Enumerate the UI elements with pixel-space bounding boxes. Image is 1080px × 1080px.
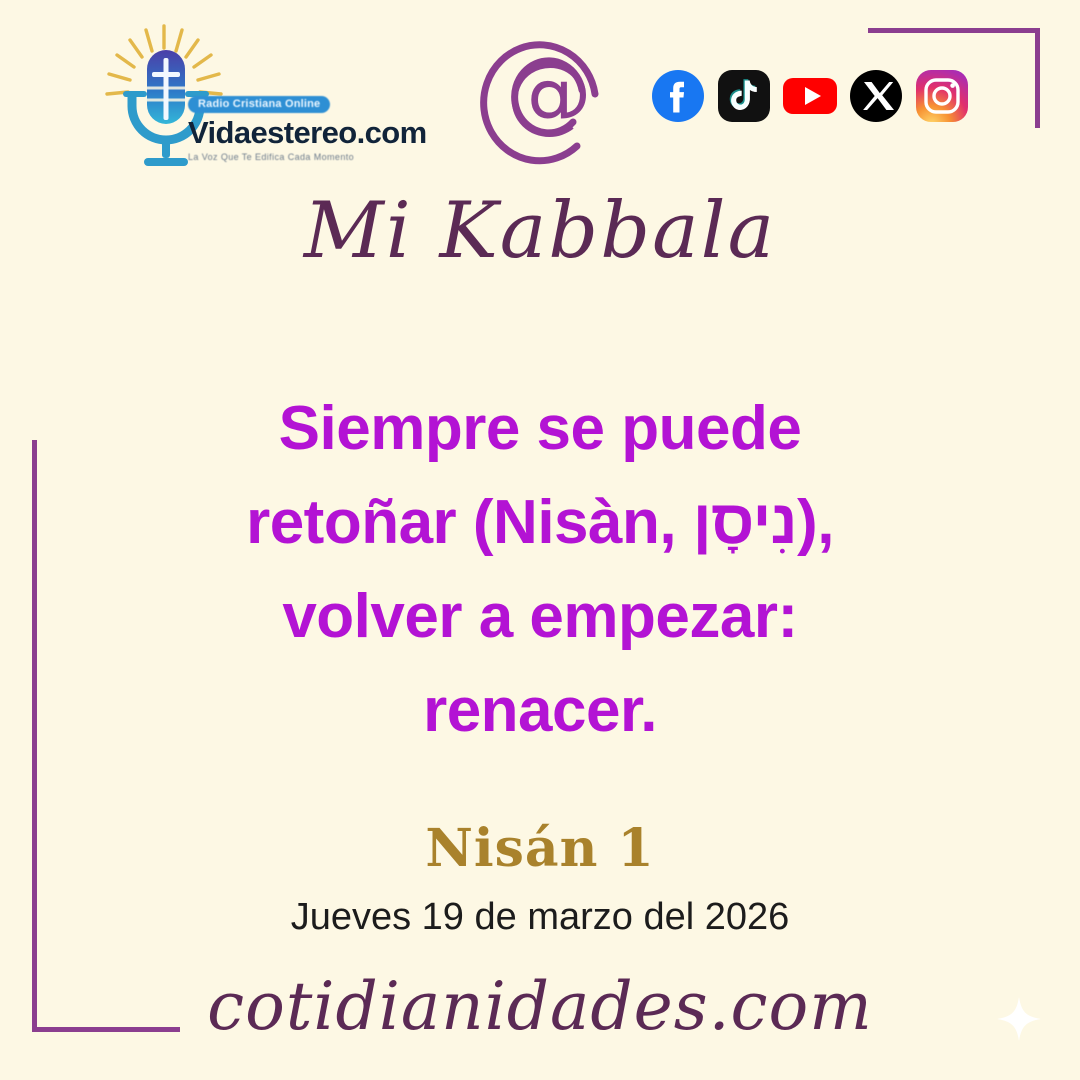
- quote-line-4: renacer.: [150, 664, 930, 758]
- gregorian-date-label: Jueves 19 de marzo del 2026: [0, 896, 1080, 939]
- hebrew-date-label: Nisán 1: [0, 818, 1080, 879]
- vidaestereo-logo[interactable]: Radio Cristiana Online Vidaestereo.com L…: [92, 22, 382, 174]
- tiktok-icon[interactable]: [716, 68, 772, 124]
- instagram-icon[interactable]: [914, 68, 970, 124]
- logo-tagline: La Voz Que Te Edifica Cada Momento: [188, 152, 388, 162]
- quote-line-1: Siempre se puede: [150, 382, 930, 476]
- site-url[interactable]: cotidianidades.com: [0, 968, 1080, 1045]
- quote-block: Siempre se puede retoñar (Nisàn, נִיסָן)…: [150, 382, 930, 758]
- quote-line-3: volver a empezar:: [150, 570, 930, 664]
- social-links: [650, 68, 970, 124]
- youtube-icon[interactable]: [782, 68, 838, 124]
- logo-badge: Radio Cristiana Online: [188, 96, 330, 113]
- x-twitter-icon[interactable]: [848, 68, 904, 124]
- header: Radio Cristiana Online Vidaestereo.com L…: [0, 0, 1080, 190]
- at-glyph: @: [506, 43, 592, 143]
- four-point-star-sparkle-icon: [996, 996, 1042, 1042]
- page-title: Mi Kabbala: [0, 186, 1080, 276]
- logo-wordmark: Vidaestereo.com: [188, 115, 388, 151]
- at-spiral-icon: @: [478, 24, 620, 176]
- social-post-card: Radio Cristiana Online Vidaestereo.com L…: [0, 0, 1080, 1080]
- quote-line-2: retoñar (Nisàn, נִיסָן),: [150, 476, 930, 570]
- logo-text-group: Radio Cristiana Online Vidaestereo.com L…: [188, 94, 388, 162]
- facebook-icon[interactable]: [650, 68, 706, 124]
